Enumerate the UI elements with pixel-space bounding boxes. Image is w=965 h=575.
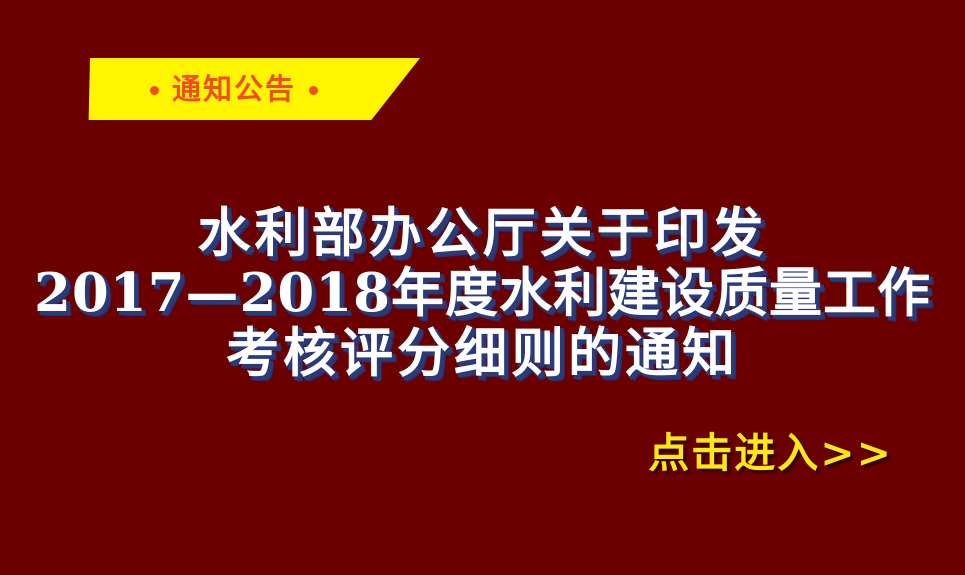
- announcement-banner-page: 通知公告 水利部办公厅关于印发 2017—2018年度水利建设质量工作 考核评分…: [0, 0, 965, 575]
- cta-container: 点击进入>>: [648, 433, 893, 474]
- enter-link[interactable]: 点击进入>>: [648, 433, 893, 474]
- title-line-3: 考核评分细则的通知: [0, 327, 965, 380]
- title-line-2: 2017—2018年度水利建设质量工作: [0, 267, 965, 320]
- title-line-1: 水利部办公厅关于印发: [0, 207, 965, 260]
- dot-separator-right-icon: [309, 86, 318, 95]
- ribbon-content: 通知公告: [40, 58, 420, 120]
- page-title: 水利部办公厅关于印发 2017—2018年度水利建设质量工作 考核评分细则的通知: [0, 207, 965, 380]
- notice-ribbon: 通知公告: [40, 58, 420, 120]
- dot-separator-left-icon: [150, 86, 159, 95]
- ribbon-label: 通知公告: [172, 75, 296, 104]
